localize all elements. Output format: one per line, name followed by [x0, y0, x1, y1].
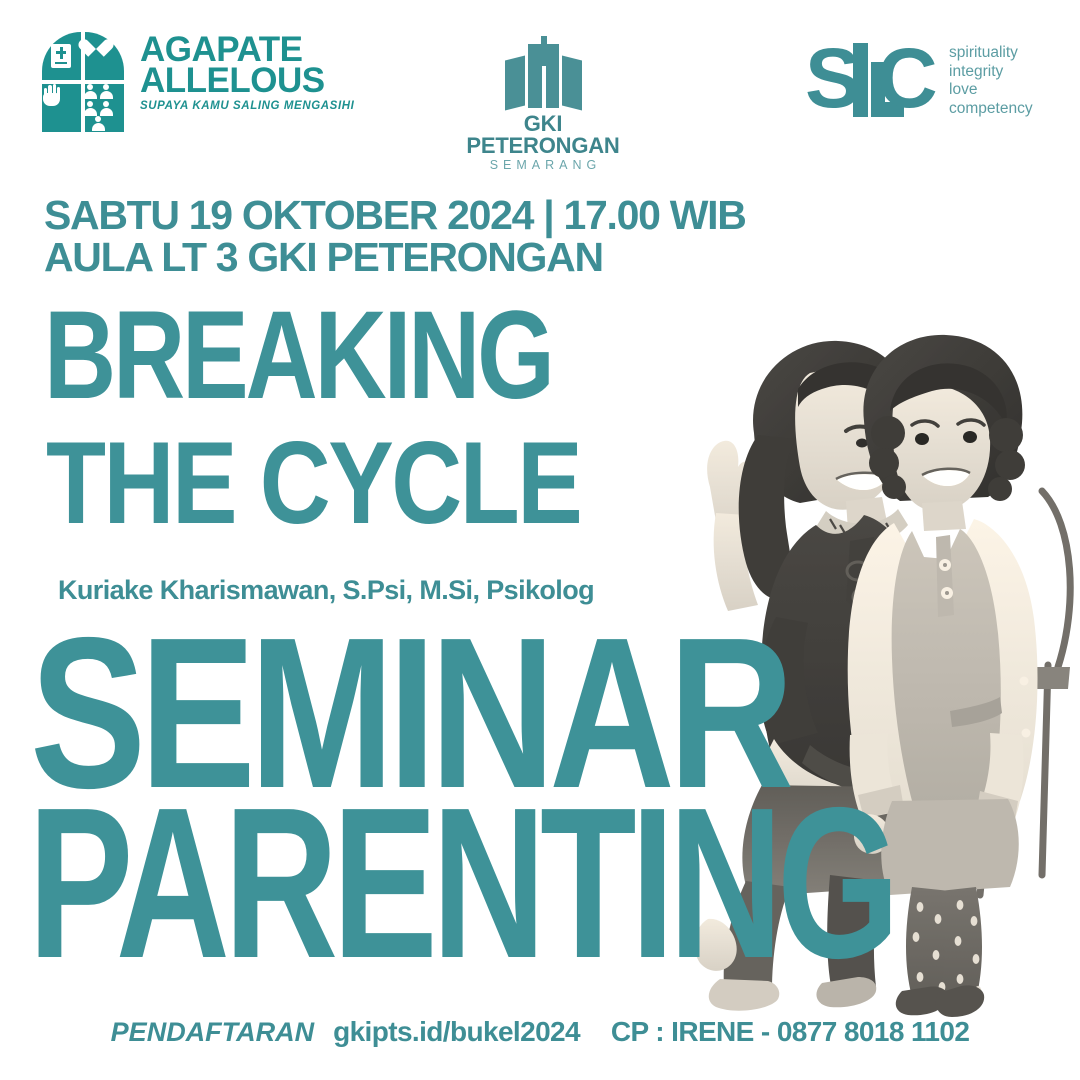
subtitle-line-1: BREAKING — [44, 300, 552, 412]
silc-value-love: love — [949, 81, 1033, 100]
logo-gki-peterongan: GKI PETERONGAN SEMARANG — [453, 36, 633, 173]
heart-quadrant-icon — [85, 32, 124, 80]
hand-quadrant-icon — [42, 84, 81, 132]
logo-silc: S C spirituality integrity love competen… — [805, 40, 1033, 122]
silc-values-list: spirituality integrity love competency — [949, 40, 1033, 118]
agapate-wordmark: AGAPATE ALLELOUS SUPAYA KAMU SALING MENG… — [140, 32, 354, 112]
silc-value-competency: competency — [949, 100, 1033, 119]
agapate-line-2: ALLELOUS — [140, 65, 354, 96]
title-line-2: PARENTING — [28, 788, 894, 978]
silc-wordmark-icon: S C — [805, 40, 933, 122]
heart-icon — [85, 32, 107, 52]
hand-icon — [42, 84, 61, 106]
contact-info: CP : IRENE - 0877 8018 1102 — [611, 1016, 969, 1048]
event-date-line: SABTU 19 OKTOBER 2024 | 17.00 WIB — [44, 194, 746, 236]
registration-label: PENDAFTARAN — [111, 1017, 315, 1048]
people-quadrant-icon — [85, 84, 124, 132]
subtitle-line-2: THE CYCLE — [46, 428, 580, 538]
bible-icon — [51, 44, 71, 68]
gki-name: GKI PETERONGAN — [453, 113, 633, 157]
bible-quadrant-icon — [42, 32, 81, 80]
people-icon — [85, 84, 120, 128]
registration-url[interactable]: gkipts.id/bukel2024 — [333, 1016, 580, 1048]
open-bible-cross-icon — [488, 36, 598, 108]
gki-city: SEMARANG — [453, 157, 633, 173]
agapate-tagline: SUPAYA KAMU SALING MENGASIHI — [140, 100, 354, 112]
silc-value-integrity: integrity — [949, 63, 1033, 82]
poster-canvas: AGAPATE ALLELOUS SUPAYA KAMU SALING MENG… — [0, 0, 1080, 1080]
silc-value-spirituality: spirituality — [949, 44, 1033, 63]
logo-agapate-allelous: AGAPATE ALLELOUS SUPAYA KAMU SALING MENG… — [42, 32, 354, 132]
agapate-mark-icon — [42, 32, 128, 132]
event-datetime-block: SABTU 19 OKTOBER 2024 | 17.00 WIB AULA L… — [44, 194, 746, 278]
event-venue-line: AULA LT 3 GKI PETERONGAN — [44, 236, 746, 278]
logo-row: AGAPATE ALLELOUS SUPAYA KAMU SALING MENG… — [0, 0, 1080, 165]
footer-bar: PENDAFTARAN gkipts.id/bukel2024 CP : IRE… — [0, 1016, 1080, 1048]
